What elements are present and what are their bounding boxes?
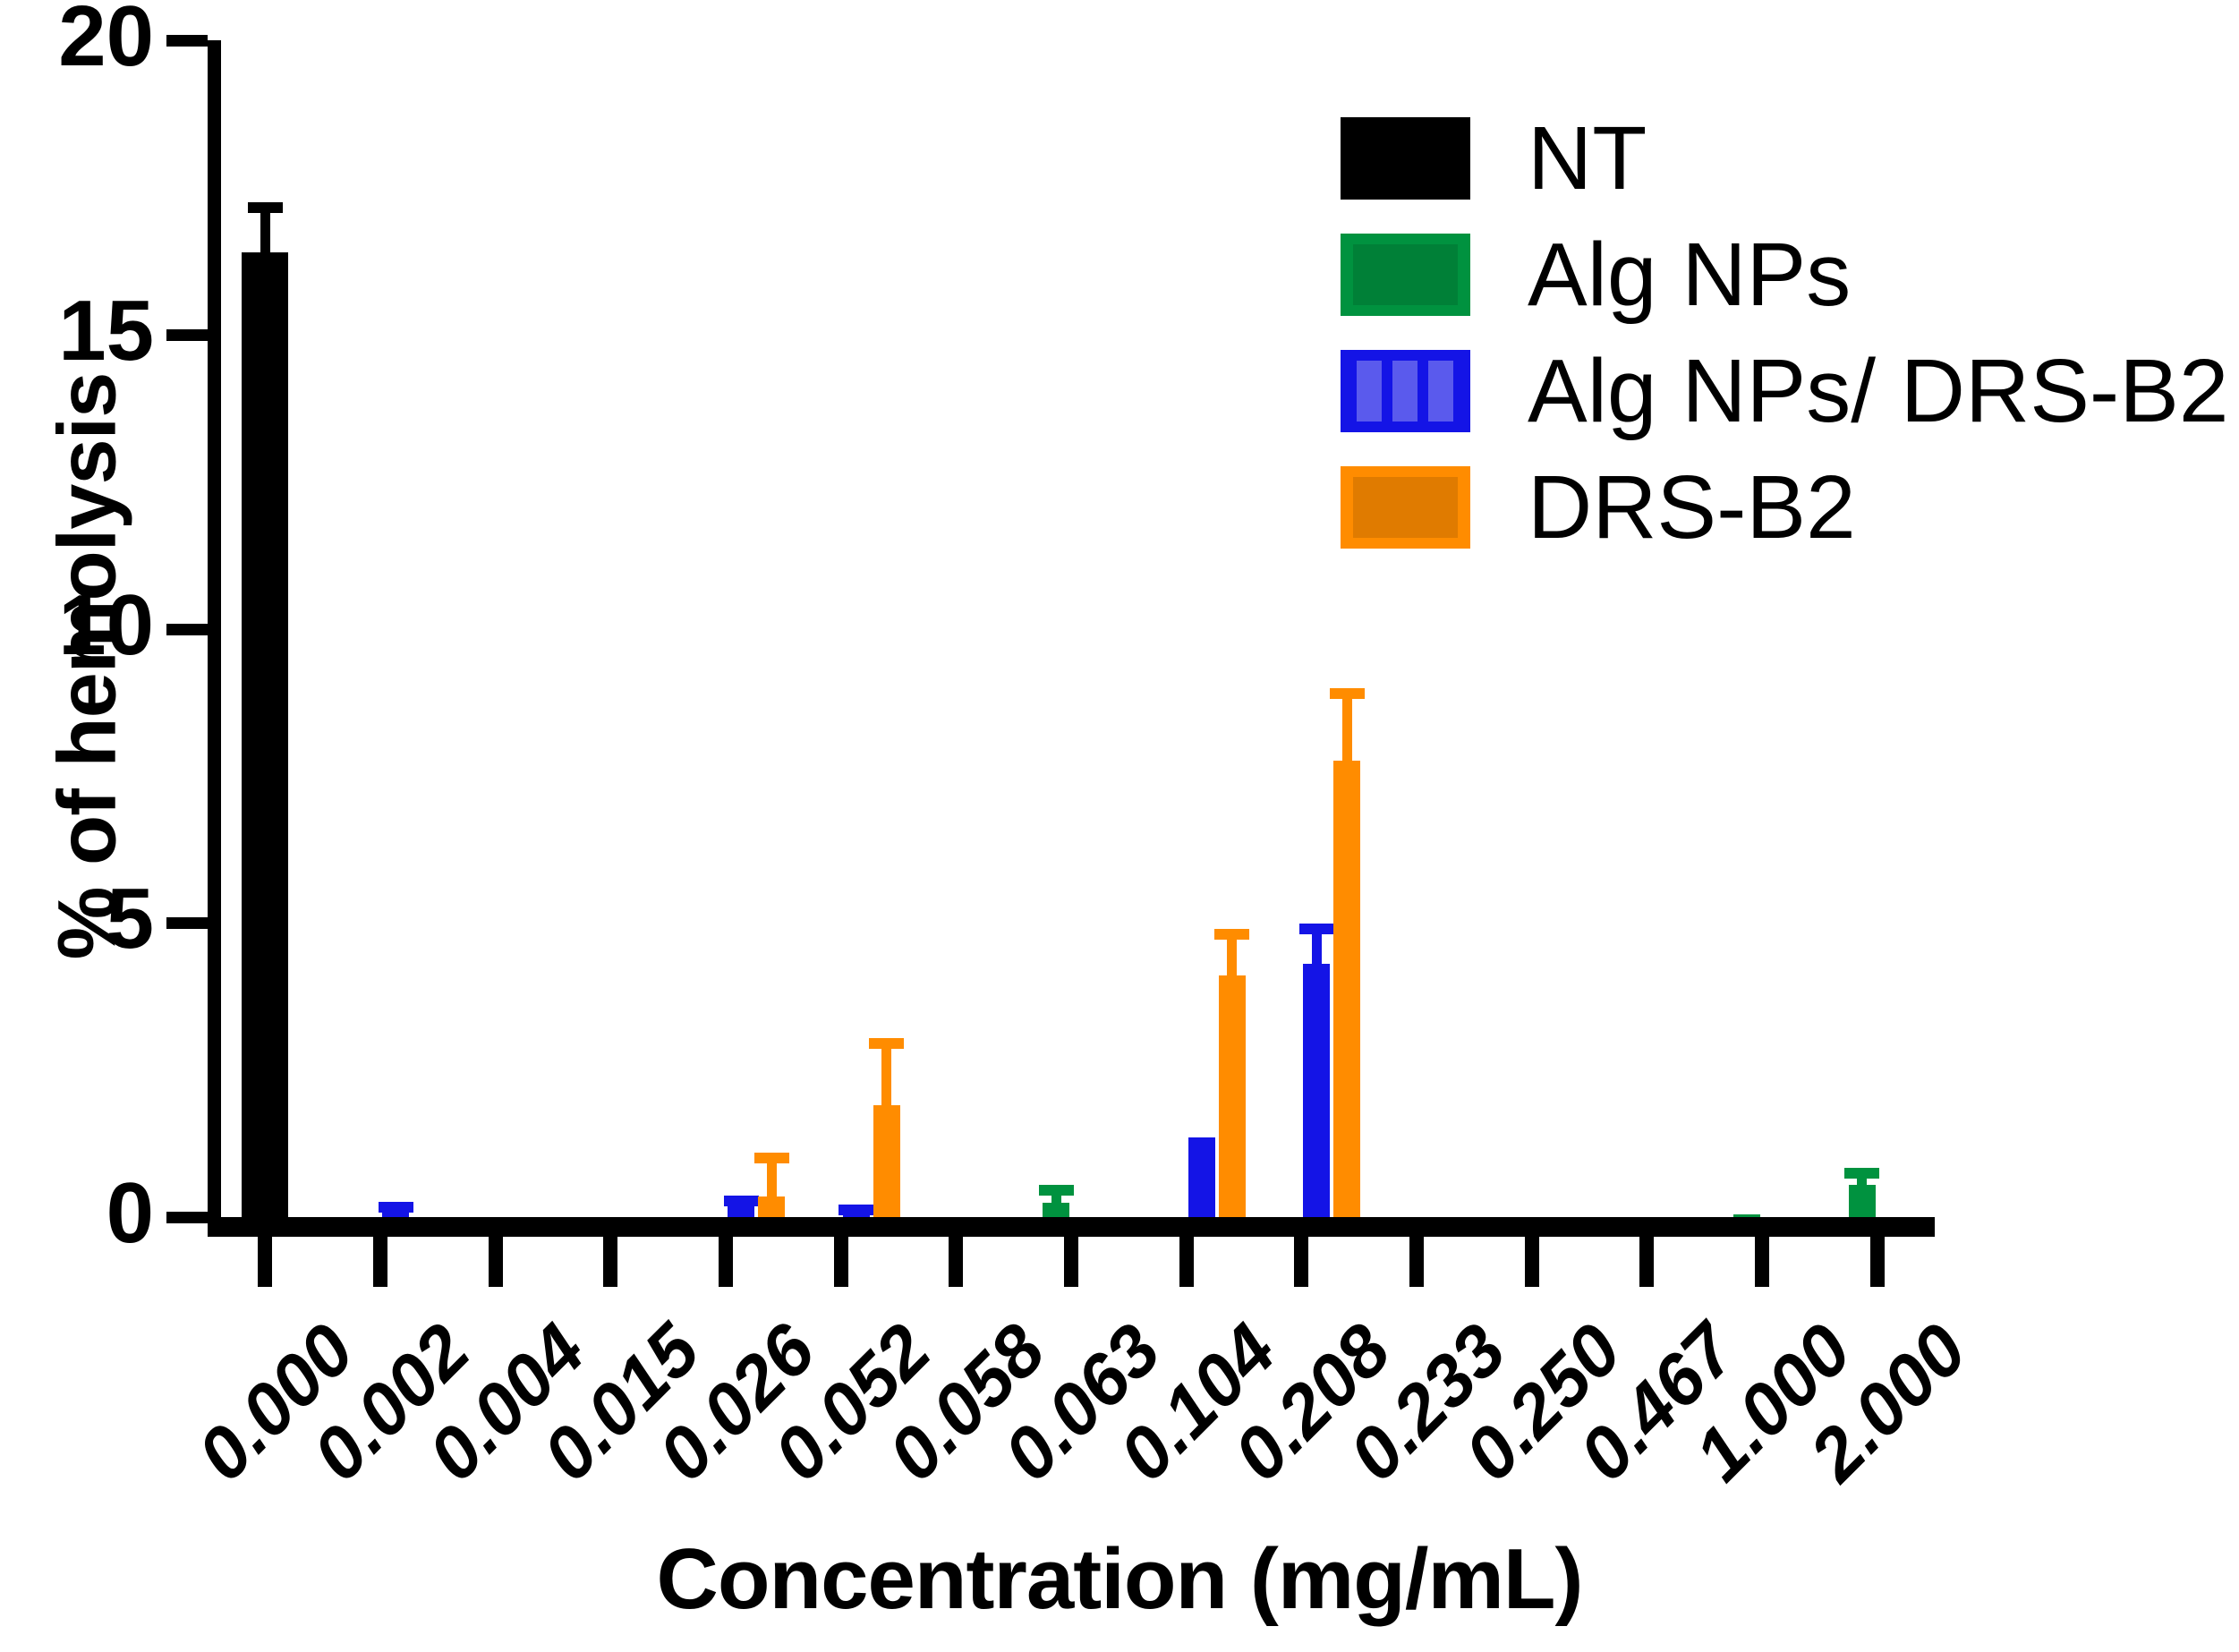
x-axis-tick — [603, 1237, 617, 1287]
legend-swatch-inner — [1353, 477, 1458, 538]
error-bar — [881, 1043, 891, 1105]
legend-swatch-icon — [1341, 117, 1470, 200]
legend-swatch-icon — [1341, 234, 1470, 316]
legend-swatch-icon — [1341, 466, 1470, 549]
error-bar — [767, 1158, 777, 1196]
bar-drs-b2-0.052 — [873, 1105, 900, 1217]
error-bar-cap — [1330, 688, 1365, 699]
y-axis-tick — [166, 329, 208, 341]
legend-swatch-stripe — [1392, 361, 1417, 422]
x-axis-tick — [373, 1237, 387, 1287]
legend-swatch-inner — [1353, 244, 1458, 305]
legend-label: DRS-B2 — [1528, 463, 1856, 552]
bar-alg-nps-drs-b2-0.208 — [1303, 964, 1330, 1217]
legend-item[interactable]: DRS-B2 — [1341, 455, 2218, 560]
bar-alg-nps-1.000 — [1733, 1214, 1760, 1217]
bar-drs-b2-0.208 — [1333, 761, 1360, 1217]
x-axis-tick — [1179, 1237, 1194, 1287]
error-bar-cap — [1039, 1185, 1074, 1196]
y-axis-tick — [166, 1212, 208, 1223]
x-axis-title: Concentration (mg/mL) — [0, 1530, 2239, 1629]
bar-drs-b2-0.026 — [758, 1196, 785, 1217]
error-bar — [1342, 694, 1352, 762]
legend-swatch-icon — [1341, 350, 1470, 432]
x-axis-tick — [258, 1237, 272, 1287]
legend-item[interactable]: Alg NPs — [1341, 222, 2218, 328]
x-axis-tick — [834, 1237, 848, 1287]
legend-swatch-stripe — [1428, 361, 1453, 422]
error-bar-cap — [1844, 1168, 1879, 1179]
error-bar-cap — [1214, 929, 1249, 940]
x-axis-spine — [208, 1217, 1935, 1237]
bar-alg-nps-2.000 — [1849, 1185, 1876, 1217]
x-axis-tick — [1064, 1237, 1078, 1287]
legend-item[interactable]: Alg NPs/ DRS-B2 — [1341, 338, 2218, 444]
error-bar-cap — [379, 1202, 413, 1213]
hemolysis-bar-chart: % of hemolysis 05101520 0.0000.0020.0040… — [0, 0, 2239, 1652]
y-axis-tick — [166, 917, 208, 929]
x-axis-tick — [1409, 1237, 1424, 1287]
bar-nt-0.000 — [242, 252, 288, 1217]
x-axis-tick — [1525, 1237, 1539, 1287]
error-bar — [260, 208, 270, 251]
y-axis-tick — [166, 624, 208, 635]
legend-label: Alg NPs/ DRS-B2 — [1528, 346, 2229, 436]
x-axis-tick — [1870, 1237, 1885, 1287]
error-bar-cap — [869, 1038, 904, 1049]
legend-label: NT — [1528, 114, 1647, 203]
y-axis-tick — [166, 35, 208, 47]
error-bar-cap — [839, 1205, 873, 1215]
chart-legend: NTAlg NPsAlg NPs/ DRS-B2DRS-B2 — [1341, 106, 2218, 571]
error-bar — [1227, 934, 1237, 975]
legend-label: Alg NPs — [1528, 230, 1851, 319]
y-axis-tick-label: 5 — [0, 876, 154, 962]
legend-item[interactable]: NT — [1341, 106, 2218, 211]
x-axis-tick — [949, 1237, 963, 1287]
x-axis-tick — [1755, 1237, 1769, 1287]
error-bar-cap — [724, 1196, 759, 1206]
y-axis-tick-label: 10 — [0, 583, 154, 668]
bar-drs-b2-0.104 — [1219, 975, 1246, 1217]
y-axis-tick-label: 20 — [0, 0, 154, 80]
bar-alg-nps-drs-b2-0.026 — [728, 1205, 754, 1217]
y-axis-tick-label: 0 — [0, 1171, 154, 1256]
error-bar-cap — [754, 1153, 789, 1163]
bar-alg-nps-drs-b2-0.104 — [1188, 1137, 1215, 1217]
x-axis-tick — [1639, 1237, 1654, 1287]
x-axis-tick — [1294, 1237, 1308, 1287]
bar-alg-nps-0.063 — [1043, 1203, 1069, 1217]
legend-swatch-stripe — [1357, 361, 1382, 422]
x-axis-tick — [719, 1237, 733, 1287]
error-bar-cap — [248, 202, 283, 213]
error-bar-cap — [1299, 924, 1334, 934]
y-axis-tick-label: 15 — [0, 288, 154, 374]
x-axis-tick — [489, 1237, 503, 1287]
